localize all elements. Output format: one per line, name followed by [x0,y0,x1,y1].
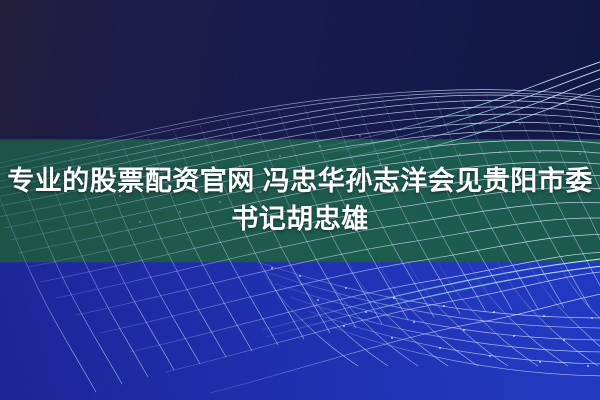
banner-graphic: 专业的股票配资官网 冯忠华孙志洋会见贵阳市委书记胡忠雄 [0,0,600,400]
background-band-blue [0,262,600,400]
page-title: 专业的股票配资官网 冯忠华孙志洋会见贵阳市委书记胡忠雄 [0,162,600,238]
background-band-navy [0,0,600,139]
